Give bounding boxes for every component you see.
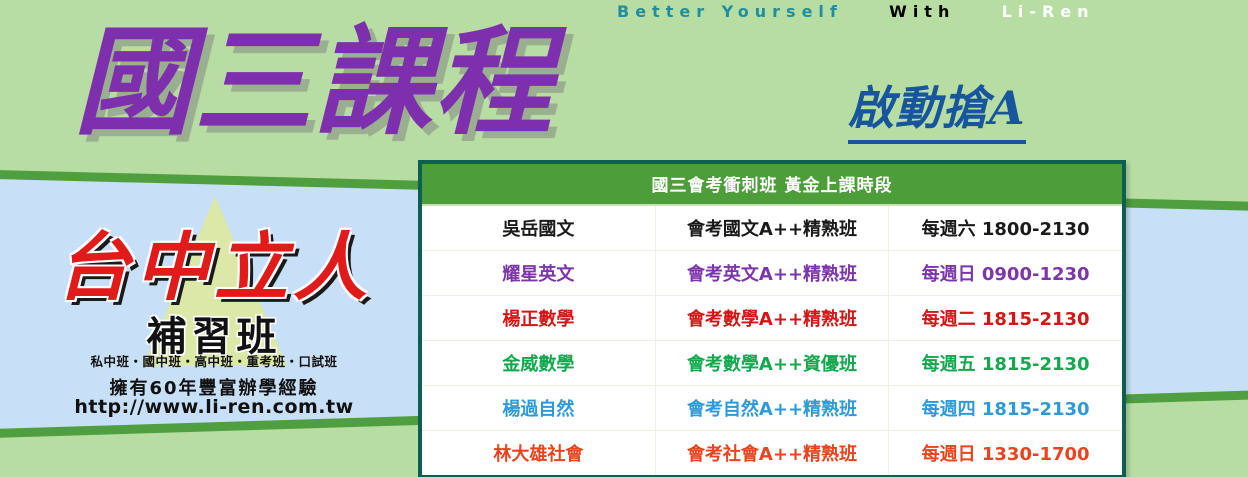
cell-teacher: 金威數學 — [422, 341, 655, 386]
tagline-part3: Li-Ren — [1002, 2, 1095, 21]
table-row: 耀星英文會考英文A++精熟班每週日 0900-1230 — [422, 251, 1122, 296]
cell-time: 每週日 0900-1230 — [889, 251, 1122, 296]
cell-teacher: 楊正數學 — [422, 296, 655, 341]
cell-time: 每週二 1815-2130 — [889, 296, 1122, 341]
page-title: 國三課程 — [74, 14, 554, 150]
cell-course: 會考英文A++精熟班 — [655, 251, 888, 296]
cell-time: 每週六 1800-2130 — [889, 205, 1122, 251]
cell-course: 會考自然A++精熟班 — [655, 386, 888, 431]
table-row: 楊正數學會考數學A++精熟班每週二 1815-2130 — [422, 296, 1122, 341]
cell-course: 會考社會A++精熟班 — [655, 431, 888, 476]
logo-name: 台中立人 — [34, 208, 394, 315]
table-header-title: 國三會考衝刺班 黃金上課時段 — [422, 164, 1122, 205]
page-subtitle: 啟動搶A — [848, 72, 1026, 144]
schedule-table-body: 吳岳國文會考國文A++精熟班每週六 1800-2130耀星英文會考英文A++精熟… — [422, 205, 1122, 475]
tagline-part2: With — [889, 2, 955, 21]
tagline-part1: Better Yourself — [617, 2, 843, 21]
table-header-row: 國三會考衝刺班 黃金上課時段 — [422, 164, 1122, 205]
table-row: 林大雄社會會考社會A++精熟班每週日 1330-1700 — [422, 431, 1122, 476]
cell-course: 會考數學A++精熟班 — [655, 296, 888, 341]
cell-time: 每週日 1330-1700 — [889, 431, 1122, 476]
cell-teacher: 楊過自然 — [422, 386, 655, 431]
cell-course: 會考數學A++資優班 — [655, 341, 888, 386]
logo: 台中立人 補習班 私中班・國中班・高中班・重考班・口試班 擁有60年豐富辦學經驗… — [28, 196, 398, 421]
tagline: Better Yourself With Li-Ren — [617, 2, 1095, 21]
table-row: 楊過自然會考自然A++精熟班每週四 1815-2130 — [422, 386, 1122, 431]
cell-time: 每週五 1815-2130 — [889, 341, 1122, 386]
table-row: 金威數學會考數學A++資優班每週五 1815-2130 — [422, 341, 1122, 386]
cell-course: 會考國文A++精熟班 — [655, 205, 888, 251]
cell-time: 每週四 1815-2130 — [889, 386, 1122, 431]
logo-categories: 私中班・國中班・高中班・重考班・口試班 — [34, 351, 394, 370]
cell-teacher: 耀星英文 — [422, 251, 655, 296]
table-row: 吳岳國文會考國文A++精熟班每週六 1800-2130 — [422, 205, 1122, 251]
cell-teacher: 吳岳國文 — [422, 205, 655, 251]
logo-website-url[interactable]: http://www.li-ren.com.tw — [34, 396, 394, 418]
schedule-table-container: 國三會考衝刺班 黃金上課時段 吳岳國文會考國文A++精熟班每週六 1800-21… — [418, 160, 1126, 477]
schedule-table: 國三會考衝刺班 黃金上課時段 吳岳國文會考國文A++精熟班每週六 1800-21… — [422, 164, 1122, 475]
cell-teacher: 林大雄社會 — [422, 431, 655, 476]
promo-banner: Better Yourself With Li-Ren 國三課程 啟動搶A 台中… — [0, 0, 1248, 477]
